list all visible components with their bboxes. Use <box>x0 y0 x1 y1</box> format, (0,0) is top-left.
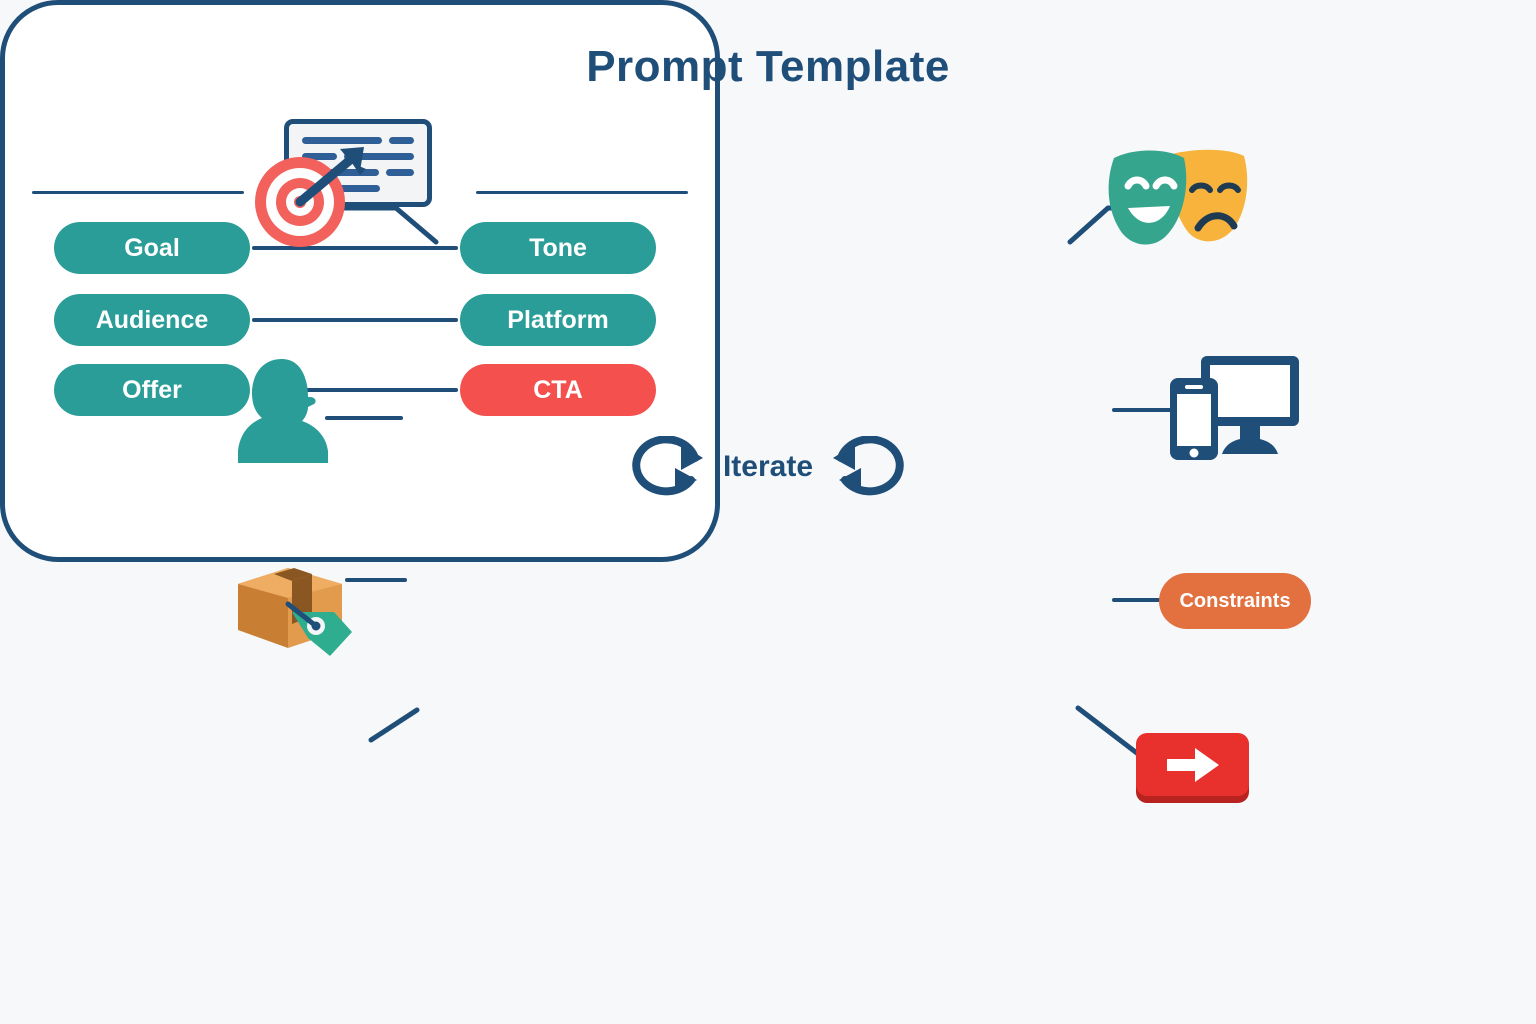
connector-person-to-card <box>325 416 403 420</box>
pill-row: Goal Tone <box>0 222 1536 274</box>
pill-audience[interactable]: Audience <box>54 294 250 346</box>
devices-phone-monitor-icon <box>1168 352 1303 462</box>
page-title: Prompt Template <box>0 42 1536 92</box>
pill-row: Offer CTA <box>0 364 1536 416</box>
connector-card-bottom-left-stub <box>365 690 445 750</box>
arrow-right-icon <box>1163 745 1223 785</box>
prompt-template-card: Prompt Template Goal Ton <box>0 0 720 562</box>
pill-tone[interactable]: Tone <box>460 222 656 274</box>
pill-platform[interactable]: Platform <box>460 294 656 346</box>
doc-line-row <box>302 137 414 144</box>
pill-cta[interactable]: CTA <box>460 364 656 416</box>
diagram-canvas: Constraints Prompt Template <box>0 0 1536 1024</box>
theater-masks-icon <box>1100 146 1255 251</box>
red-arrow-button[interactable] <box>1136 733 1249 796</box>
connector-card-to-devices <box>1112 408 1174 412</box>
divider-right <box>476 191 688 194</box>
iterate-label: Iterate <box>723 450 813 484</box>
pill-offer[interactable]: Offer <box>54 364 250 416</box>
iterate-block: Iterate <box>0 432 1536 502</box>
divider-left <box>32 191 244 194</box>
pill-goal[interactable]: Goal <box>54 222 250 274</box>
pill-connector <box>252 318 458 322</box>
person-silhouette-icon <box>236 355 332 465</box>
pill-row: Audience Platform <box>0 294 1536 346</box>
target-dartboard-icon <box>248 145 368 250</box>
refresh-loop-icon <box>827 436 907 498</box>
refresh-loop-icon <box>629 436 709 498</box>
constraints-pill[interactable]: Constraints <box>1159 573 1311 629</box>
package-box-tag-icon <box>230 550 365 660</box>
connector-card-to-constraints <box>1112 598 1164 602</box>
